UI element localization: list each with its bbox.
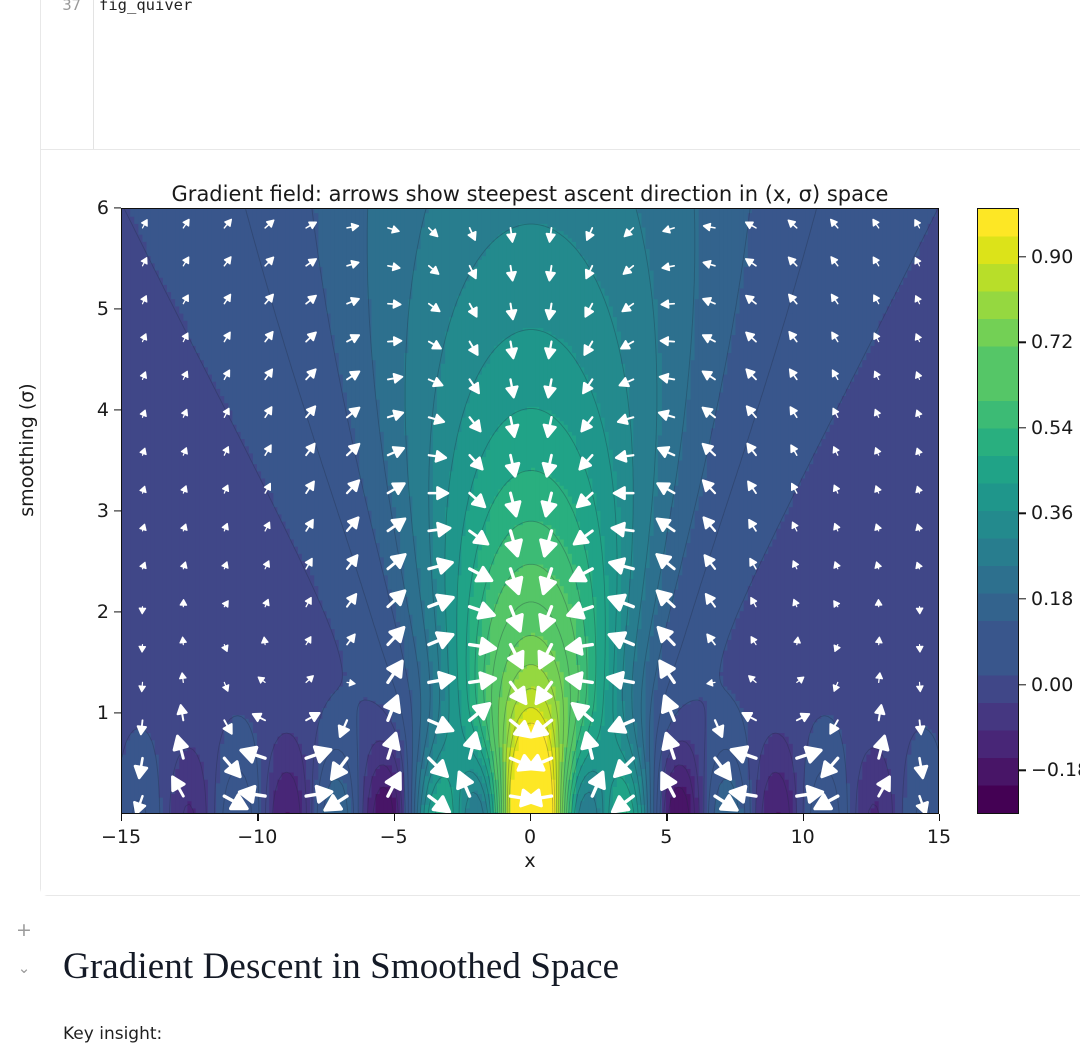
contour-band (572, 435, 577, 504)
contour-band (768, 374, 773, 547)
contour-band (592, 492, 597, 597)
x-tick-label: 15 (904, 826, 974, 848)
contour-band (502, 231, 507, 339)
markdown-heading: Gradient Descent in Smoothed Space (63, 945, 619, 988)
contour-band (376, 768, 381, 794)
contour-band (261, 478, 266, 814)
contour-band (551, 227, 556, 335)
contour-band (932, 733, 937, 814)
contour-band (339, 686, 344, 748)
cell-gutter-controls[interactable]: + ⌄ (14, 920, 44, 978)
contour-band (699, 697, 704, 776)
contour-band (780, 338, 785, 521)
contour-band (371, 209, 376, 360)
contour-band (249, 209, 254, 220)
contour-band (736, 313, 741, 479)
contour-band (461, 725, 466, 779)
contour-band (736, 618, 741, 701)
colorbar-tick-label: 0.90 (1031, 246, 1073, 268)
contour-band (306, 209, 311, 410)
contour-band (883, 313, 888, 758)
y-tick-mark (114, 308, 121, 309)
contour-band (695, 700, 700, 754)
contour-band (457, 575, 462, 690)
contour-band (147, 256, 152, 734)
contour-band (183, 320, 188, 751)
contour-band (691, 360, 696, 529)
contour-band (408, 614, 413, 690)
contour-band (601, 288, 606, 418)
contour-band (294, 546, 299, 737)
contour-band (539, 223, 544, 328)
contour-band (359, 209, 364, 479)
contour-band (609, 306, 614, 450)
contour-band (740, 467, 745, 611)
contour-band (277, 779, 282, 814)
contour-band (163, 284, 168, 814)
contour-band (834, 209, 839, 410)
contour-band (576, 248, 581, 363)
contour-band (511, 686, 516, 719)
contour-band (482, 367, 487, 457)
contour-band (793, 492, 798, 772)
contour-band (535, 223, 540, 328)
contour-band (327, 478, 332, 618)
contour-band (911, 263, 916, 741)
contour-band (376, 629, 381, 705)
contour-band (515, 474, 520, 525)
contour-band (772, 772, 777, 814)
contour-band (605, 295, 610, 432)
contour-band (155, 270, 160, 755)
contour-band (813, 220, 818, 454)
contour-band (556, 231, 561, 339)
contour-band (776, 209, 781, 349)
contour-band (776, 733, 781, 773)
contour-band (212, 209, 217, 382)
contour-band (134, 223, 139, 729)
contour-band (498, 546, 503, 593)
contour-band (686, 704, 691, 740)
contour-band (302, 560, 307, 754)
contour-band (142, 241, 147, 726)
contour-band (560, 586, 565, 630)
contour-band (363, 496, 368, 593)
notebook-code-cell[interactable]: 32ax_quiver.set_xlabel('x')33ax_quiver.s… (40, 0, 1080, 896)
contour-band (175, 209, 180, 306)
contour-band (187, 209, 192, 339)
chevron-down-icon[interactable]: ⌄ (14, 958, 34, 978)
contour-band (232, 424, 237, 715)
contour-band (768, 209, 773, 375)
contour-band (691, 700, 696, 744)
markdown-body: Key insight: (63, 1024, 162, 1044)
contour-band (531, 406, 536, 468)
contour-band (380, 643, 385, 705)
contour-band (241, 715, 246, 769)
contour-band (351, 209, 356, 428)
contour-band (568, 209, 573, 238)
contour-band (870, 747, 875, 809)
contour-band (674, 485, 679, 590)
contour-band (392, 209, 397, 507)
contour-band (543, 209, 548, 224)
contour-band (196, 754, 201, 814)
notebook-page: 32ax_quiver.set_xlabel('x')33ax_quiver.s… (0, 0, 1080, 1057)
x-axis-label: x (121, 850, 939, 872)
contour-band (756, 209, 761, 410)
contour-band (731, 335, 736, 490)
contour-band (699, 593, 704, 698)
contour-band (506, 231, 511, 339)
contour-band (322, 288, 327, 468)
contour-band (527, 564, 532, 600)
contour-band (515, 331, 520, 410)
contour-band (286, 772, 291, 812)
contour-band (752, 421, 757, 576)
contour-band (858, 367, 863, 780)
contour-band (412, 636, 417, 814)
contour-band (286, 209, 291, 349)
contour-band (780, 209, 785, 339)
contour-band (727, 690, 732, 748)
contour-band (695, 607, 700, 701)
contour-band (392, 747, 397, 773)
contour-band (228, 410, 233, 723)
contour-band (286, 349, 291, 529)
contour-band (294, 736, 299, 776)
contour-band (588, 478, 593, 568)
contour-band (277, 324, 282, 515)
contour-band (936, 740, 939, 814)
contour-band (813, 453, 818, 723)
contour-band (543, 331, 548, 410)
contour-band (502, 629, 507, 673)
contour-band (429, 722, 434, 758)
contour-band (490, 435, 495, 504)
contour-band (376, 542, 381, 629)
contour-band (322, 209, 327, 288)
contour-band (466, 510, 471, 740)
contour-band (654, 209, 659, 299)
contour-band (527, 521, 532, 565)
contour-band (772, 733, 777, 773)
contour-band (666, 532, 671, 622)
contour-band (903, 277, 908, 798)
contour-band (331, 209, 336, 335)
contour-band (850, 381, 855, 814)
contour-band (486, 209, 491, 249)
contour-band (866, 754, 871, 814)
contour-band (535, 406, 540, 471)
contour-band (850, 209, 855, 382)
contour-band (821, 438, 826, 715)
contour-band (891, 299, 896, 794)
contour-band (911, 209, 916, 263)
contour-band (576, 758, 581, 777)
contour-band (805, 248, 810, 471)
x-tick-mark (394, 814, 395, 821)
contour-band (527, 471, 532, 522)
contour-band (527, 223, 532, 328)
contour-band (478, 793, 483, 814)
y-tick-mark (114, 409, 121, 410)
contour-band (527, 690, 532, 709)
contour-band (482, 783, 487, 802)
contour-band (192, 209, 197, 346)
contour-band (748, 213, 753, 432)
contour-band (785, 324, 790, 515)
contour-band (498, 424, 503, 489)
contour-band (282, 733, 287, 773)
contour-band (261, 259, 266, 478)
contour-band (678, 654, 683, 708)
contour-band (310, 209, 315, 421)
contour-band (568, 345, 573, 432)
colorbar-tick-label: 0.18 (1031, 588, 1073, 610)
contour-band (523, 223, 528, 328)
contour-band (347, 209, 352, 410)
contour-band (695, 510, 700, 607)
contour-band (924, 725, 929, 801)
contour-band (290, 733, 295, 773)
contour-band (756, 568, 761, 780)
x-tick-label: −5 (359, 826, 429, 848)
contour-band (335, 503, 340, 640)
contour-band (498, 342, 503, 425)
contour-band (560, 209, 565, 231)
contour-band (204, 209, 209, 367)
contour-band (400, 209, 405, 554)
contour-band (183, 750, 188, 814)
contour-band (466, 209, 471, 281)
contour-band (322, 611, 327, 708)
contour-band (674, 209, 679, 486)
contour-band (134, 209, 139, 224)
contour-band (159, 209, 164, 278)
contour-band (842, 209, 847, 396)
contour-band (494, 496, 499, 554)
contour-band (253, 209, 258, 235)
contour-band (592, 209, 597, 274)
contour-band (359, 478, 364, 583)
contour-band (789, 507, 794, 744)
contour-band (764, 209, 769, 385)
colorbar-tick-mark (1018, 598, 1026, 599)
contour-band (294, 374, 299, 547)
contour-band (363, 593, 368, 698)
colorbar-tick-mark (1018, 427, 1026, 428)
contour-band (490, 352, 495, 435)
contour-band (519, 209, 524, 224)
contour-band (899, 284, 904, 814)
contour-band (380, 786, 385, 814)
contour-band (269, 288, 274, 493)
contour-band (122, 754, 127, 814)
contour-band (318, 456, 323, 600)
contour-band (461, 535, 466, 726)
contour-band (490, 209, 495, 242)
contour-band (388, 485, 393, 590)
contour-band (126, 209, 131, 740)
contour-band (212, 381, 217, 814)
contour-band (167, 209, 172, 292)
contour-band (539, 471, 544, 522)
contour-band (596, 510, 601, 740)
contour-band (171, 209, 176, 299)
contour-band (682, 431, 687, 557)
y-tick-label: 2 (63, 601, 109, 623)
contour-band (776, 772, 781, 812)
contour-band (547, 209, 552, 228)
contour-band (531, 632, 536, 665)
contour-band (216, 388, 221, 783)
contour-band (237, 209, 242, 432)
contour-band (449, 471, 454, 787)
contour-band (576, 449, 581, 521)
colorbar-tick-label: 0.00 (1031, 674, 1073, 696)
contour-band (556, 209, 561, 231)
contour-band (760, 209, 765, 396)
contour-band (494, 345, 499, 432)
code-line-number: 37 (41, 0, 81, 18)
contour-band (478, 259, 483, 374)
contour-band (494, 431, 499, 496)
contour-band (870, 808, 875, 814)
contour-band (175, 306, 180, 769)
y-tick-mark (114, 510, 121, 511)
contour-band (519, 223, 524, 331)
contour-band (572, 503, 577, 565)
contour-band (416, 209, 421, 249)
contour-band (846, 388, 851, 783)
contour-band (531, 664, 536, 686)
contour-band (470, 209, 475, 274)
contour-band (531, 209, 536, 224)
contour-band (257, 471, 262, 755)
contour-band (748, 586, 753, 780)
add-cell-icon[interactable]: + (14, 920, 34, 940)
contour-band (371, 700, 376, 744)
contour-band (282, 338, 287, 521)
contour-band (192, 345, 197, 747)
contour-band (772, 360, 777, 540)
contour-band (502, 586, 507, 630)
contour-band (854, 209, 859, 375)
contour-band (216, 209, 221, 389)
contour-band (470, 492, 475, 597)
contour-band (371, 360, 376, 529)
contour-band (163, 209, 168, 285)
colorbar-tick-mark (1018, 256, 1026, 257)
contour-band (216, 783, 221, 814)
contour-band (416, 248, 421, 568)
contour-band (596, 281, 601, 404)
contour-band (241, 209, 246, 439)
matplotlib-figure: Gradient field: arrows show steepest asc… (41, 150, 1080, 895)
contour-band (641, 804, 646, 814)
contour-band (290, 209, 295, 360)
contour-band (695, 299, 700, 511)
y-tick-mark (114, 611, 121, 612)
contour-band (719, 392, 724, 525)
contour-band (646, 568, 651, 662)
contour-band (817, 718, 822, 776)
code-editor[interactable]: 32ax_quiver.set_xlabel('x')33ax_quiver.s… (41, 0, 1080, 150)
contour-band (461, 209, 466, 288)
contour-band (817, 446, 822, 719)
contour-band (731, 693, 736, 751)
contour-band (895, 209, 900, 292)
contour-band (208, 209, 213, 375)
contour-band (703, 209, 708, 479)
colorbar-tick-label: 0.72 (1031, 331, 1073, 353)
contour-band (772, 209, 777, 360)
contour-band (151, 209, 156, 263)
x-tick-label: 10 (768, 826, 838, 848)
contour-band (363, 697, 368, 776)
contour-band (596, 808, 601, 814)
colorbar-gradient (978, 209, 1018, 813)
contour-band (895, 291, 900, 814)
contour-band (237, 431, 242, 715)
contour-band (523, 564, 528, 604)
contour-band (523, 471, 528, 522)
contour-band (380, 765, 385, 787)
contour-band (298, 553, 303, 744)
contour-band (879, 209, 884, 321)
contour-band (866, 209, 871, 353)
contour-band (130, 216, 135, 733)
contour-band (318, 600, 323, 719)
contour-band (200, 209, 205, 360)
contour-band (551, 209, 556, 228)
contour-band (425, 213, 430, 630)
contour-band (343, 392, 348, 525)
contour-band (870, 345, 875, 747)
x-tick-mark (257, 814, 258, 821)
contour-band (633, 209, 638, 661)
contour-band (466, 808, 471, 814)
colorbar-tick-label: 0.36 (1031, 502, 1073, 524)
contour-band (228, 209, 233, 410)
contour-band (883, 209, 888, 314)
contour-band (797, 485, 802, 814)
contour-band (282, 521, 287, 733)
contour-band (257, 209, 262, 249)
contour-band (875, 338, 880, 747)
contour-band (130, 209, 135, 217)
contour-band (682, 740, 687, 766)
contour-band (646, 209, 651, 249)
contour-band (580, 367, 585, 457)
contour-band (719, 525, 724, 673)
contour-band (576, 740, 581, 759)
contour-band (327, 700, 332, 754)
contour-band (801, 259, 806, 478)
contour-band (682, 643, 687, 705)
contour-band (159, 277, 164, 798)
contour-band (286, 733, 291, 773)
contour-band (367, 700, 372, 754)
contour-band (686, 740, 691, 769)
contour-band (245, 446, 250, 719)
colorbar-tick-mark (1018, 513, 1026, 514)
contour-band (171, 299, 176, 794)
contour-band (879, 320, 884, 751)
contour-band (531, 223, 536, 328)
contour-band (727, 639, 732, 690)
